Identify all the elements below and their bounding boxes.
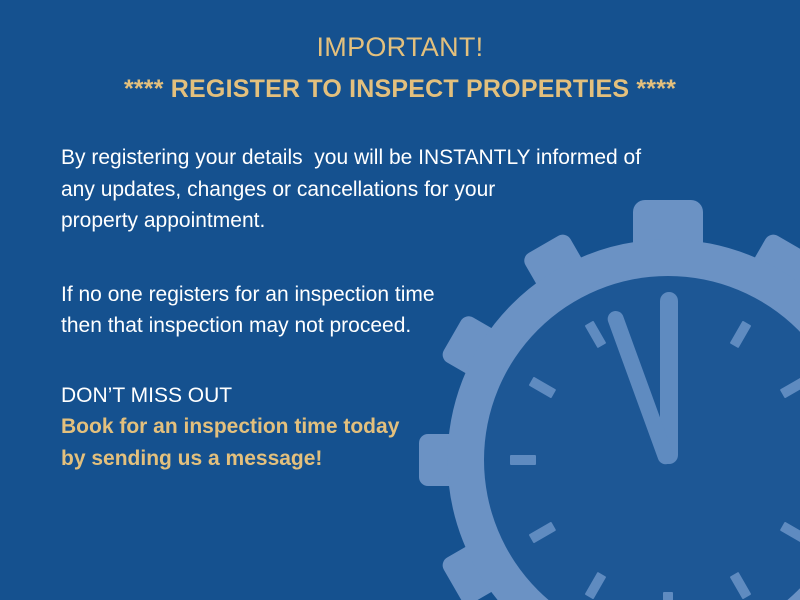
cta-dont-miss-out: DON’T MISS OUT	[61, 380, 721, 412]
cta-send-message: by sending us a message!	[61, 443, 721, 475]
promo-slide: IMPORTANT! **** REGISTER TO INSPECT PROP…	[0, 0, 800, 600]
headline-block: IMPORTANT! **** REGISTER TO INSPECT PROP…	[0, 30, 800, 106]
body-line: property appointment.	[61, 205, 721, 237]
paragraph-no-registration-warning: If no one registers for an inspection ti…	[61, 279, 721, 342]
body-line: By registering your details you will be …	[61, 142, 721, 174]
body-line: If no one registers for an inspection ti…	[61, 279, 721, 311]
headline-register-cta: **** REGISTER TO INSPECT PROPERTIES ****	[0, 72, 800, 106]
body-copy-block: By registering your details you will be …	[61, 142, 721, 474]
cta-book-inspection: Book for an inspection time today	[61, 411, 721, 443]
paragraph-registering-benefit: By registering your details you will be …	[61, 142, 721, 237]
paragraph-call-to-action: DON’T MISS OUT Book for an inspection ti…	[61, 380, 721, 475]
body-line: any updates, changes or cancellations fo…	[61, 174, 721, 206]
paragraph-spacer	[61, 237, 721, 279]
paragraph-spacer	[61, 342, 721, 380]
headline-important: IMPORTANT!	[0, 30, 800, 64]
body-line: then that inspection may not proceed.	[61, 310, 721, 342]
